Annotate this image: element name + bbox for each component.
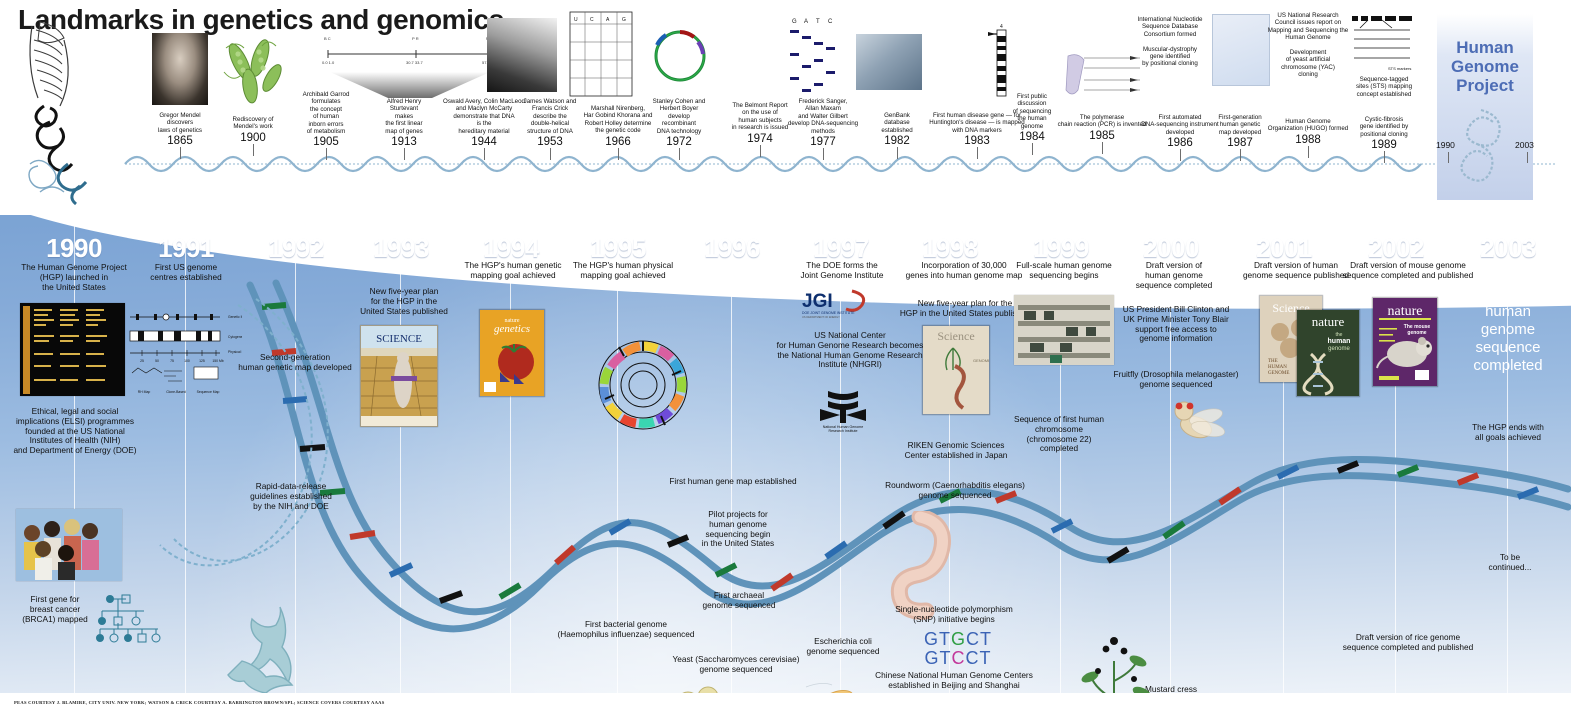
timeline-tick (1032, 143, 1033, 155)
top-event-above: International Nucleotide Sequence Databa… (1124, 16, 1216, 68)
note-2000-draft-version: Draft version of human genome sequence c… (1122, 261, 1226, 290)
timeline-tick (897, 147, 898, 159)
top-timeline-dna-axis (0, 150, 1571, 176)
note-1998-chinese-centers: Chinese National Human Genome Centers es… (868, 671, 1040, 691)
timeline-tick (484, 148, 485, 160)
svg-text:SCIENCE: SCIENCE (376, 333, 422, 345)
svg-text:100: 100 (184, 359, 190, 363)
note-1999-chromosome-22: Sequence of first human chromosome (chro… (1000, 415, 1118, 454)
svg-text:JGI: JGI (802, 291, 833, 312)
note-1991-us-centres: First US genome centres established (128, 263, 244, 283)
top-event: Rediscovery of Mendel's work 1900 (222, 116, 284, 144)
svg-text:P R: P R (412, 36, 419, 41)
note-2000-clinton-blair: US President Bill Clinton and UK Prime M… (1112, 305, 1240, 344)
top-event-above: US National Research Council issues repo… (1262, 12, 1354, 79)
chromosome-ideogram: 4 (988, 22, 1014, 98)
svg-text:Genetic Map: Genetic Map (228, 315, 242, 319)
svg-text:US DEPARTMENT OF ENERGY: US DEPARTMENT OF ENERGY (802, 315, 840, 319)
timeline-tick (1308, 146, 1309, 158)
timeline-tick (404, 148, 405, 160)
genetic-cytogenetic-physical-map-diagram: 255075 100125150 Mb Genetic Map Cytogene… (124, 303, 242, 395)
poster-root: Landmarks in genetics and genomics (0, 0, 1571, 723)
note-1990-hgp-launch: The Human Genome Project (HGP) launched … (8, 263, 140, 292)
sts-markers-diagram: STS markers (1348, 14, 1416, 76)
svg-text:human: human (1328, 338, 1351, 345)
nature-mouse-genome-cover: nature The mouse genome (1372, 297, 1438, 387)
svg-text:nature: nature (1388, 304, 1423, 319)
nature-human-genome-cover: nature the human genome (1296, 309, 1360, 397)
note-1996-first-gene-map: First human gene map established (658, 477, 808, 487)
note-1992-second-gen-map: Second-generation human genetic map deve… (230, 353, 360, 373)
fruitfly-illustration (1166, 393, 1230, 451)
note-1996-pilot-projects: Pilot projects for human genome sequenci… (686, 510, 790, 549)
timeline-tick (1102, 142, 1103, 154)
svg-text:25: 25 (140, 359, 144, 363)
svg-text:Cytogenetic Map: Cytogenetic Map (228, 335, 242, 339)
note-1992-rapid-data-release: Rapid-data-release guidelines establishe… (230, 482, 352, 511)
timeline-tick (550, 148, 551, 160)
svg-text:HUMAN: HUMAN (1268, 365, 1287, 370)
genbank-screen-photo (856, 34, 922, 90)
snp-bottom-sequence: GTCCT (910, 649, 1006, 668)
note-2000-fruitfly: Fruitfly (Drosophila melanogaster) genom… (1110, 370, 1242, 390)
note-2002-rice-genome: Draft version of rice genome sequence co… (1338, 633, 1478, 653)
svg-text:Science: Science (937, 329, 974, 343)
top-event: Alfred Henry Sturtevant makes the first … (370, 98, 438, 148)
note-1998-c-elegans: Roundworm (Caenorhabditis elegans) genom… (880, 481, 1030, 501)
group-of-children-photo (16, 509, 122, 581)
watson-crick-photo (487, 18, 557, 92)
sequencing-gel-autoradiograph: GATC (786, 16, 842, 96)
yeast-cells-illustration (666, 685, 752, 693)
svg-text:GENOME: GENOME (973, 358, 989, 363)
bottom-timeline-band: 1990 1991 1992 1993 1994 1995 1996 1997 … (0, 215, 1571, 693)
year-heading-1992: 1992 (240, 233, 352, 264)
svg-text:RH Map: RH Map (138, 390, 151, 394)
top-event: Cystic-fibrosis gene identified by posit… (1348, 116, 1420, 151)
hgp-start-tick (1448, 152, 1449, 163)
svg-text:125: 125 (199, 359, 205, 363)
svg-text:C: C (828, 19, 833, 25)
hgp-end-tick (1527, 152, 1528, 163)
sequence-printout-image (20, 303, 125, 396)
svg-text:nature: nature (1312, 314, 1345, 329)
timeline-tick (180, 147, 181, 159)
human-genome-project-banner: Human Genome Project (1437, 14, 1533, 200)
timeline-tick (1180, 149, 1181, 161)
top-event: Human Genome Organization (HUGO) formed … (1258, 118, 1358, 146)
pedigree-chart (92, 591, 170, 643)
note-1997-ecoli-sequenced: Escherichia coli genome sequenced (788, 637, 898, 657)
genetic-code-table: UCAG (568, 10, 634, 98)
top-event-above: Sequence-tagged sites (STS) mapping conc… (1348, 76, 1420, 98)
svg-text:150 Mb: 150 Mb (212, 359, 223, 363)
chromosome-pair-illustration (218, 603, 348, 693)
note-1998-snp-initiative: Single-nucleotide polymorphism (SNP) ini… (880, 605, 1028, 625)
hgp-start-year: 1990 (1436, 140, 1455, 150)
svg-text:T: T (816, 19, 820, 25)
svg-text:THE: THE (1268, 359, 1278, 364)
top-event: First public discussion of sequencing th… (1008, 93, 1056, 143)
note-2003-to-be-continued: To be continued... (1470, 553, 1550, 573)
science-cover-1998: Science GENOME (922, 325, 990, 415)
svg-text:4: 4 (1000, 24, 1003, 30)
note-1993-five-year-plan: New five-year plan for the HGP in the Un… (352, 287, 456, 316)
year-heading-1990: 1990 (18, 233, 130, 264)
note-1997-nhgri: US National Center for Human Genome Rese… (770, 331, 930, 370)
note-1996-first-archaeal: First archaeal genome sequenced (690, 591, 788, 611)
top-timeline-band: Landmarks in genetics and genomics (0, 0, 1571, 215)
svg-text:genome: genome (1407, 330, 1426, 336)
timeline-tick (760, 145, 761, 157)
timeline-tick (326, 148, 327, 160)
top-event: Archibald Garrod formulates the concept … (295, 91, 357, 148)
snp-sequence-graphic: GTGCT GTCCT (910, 630, 1006, 668)
hgp-banner-title: Human Genome Project (1437, 38, 1533, 95)
year-heading-1993: 1993 (345, 233, 457, 264)
image-credit-line: PEAS COURTESY J. BLAMIRE, CITY UNIV. NEW… (14, 700, 385, 705)
timeline-tick (977, 147, 978, 159)
jgi-logo: JGI DOE JOINT GENOME INSTITUTE US DEPART… (800, 287, 888, 321)
top-event: Gregor Mendel discovers laws of genetics… (148, 112, 212, 147)
svg-text:GENOME: GENOME (1268, 371, 1289, 376)
svg-text:Research Institute: Research Institute (829, 429, 858, 433)
top-event: Frederick Sanger, Allan Maxam and Walter… (780, 98, 866, 148)
svg-text:genome: genome (1328, 346, 1350, 352)
hgp-end-year: 2003 (1515, 140, 1534, 150)
nature-genetics-cover: nature genetics (479, 309, 545, 397)
svg-text:U: U (574, 17, 578, 23)
svg-text:30.7 33.7: 30.7 33.7 (406, 60, 423, 65)
svg-text:STS markers: STS markers (1388, 66, 1411, 71)
dna-loop-illustration (1451, 106, 1523, 198)
snp-top-sequence: GTGCT (910, 630, 1006, 649)
science-cover-1993: SCIENCE (360, 325, 438, 427)
note-1995-physical-map-goal: The HGP's human physical mapping goal ac… (562, 261, 684, 281)
svg-text:B C: B C (324, 36, 331, 41)
note-text: First bacterial genome (Haemophilus infl… (558, 619, 695, 639)
year-heading-2003: 2003 (1452, 233, 1564, 264)
svg-text:G: G (792, 19, 797, 25)
timeline-tick (253, 144, 254, 156)
arabidopsis-plant-illustration (1070, 627, 1162, 693)
note-1990-elsi: Ethical, legal and social implications (… (0, 407, 150, 456)
note-2003-finished-version: Finished version of human genome sequenc… (1452, 267, 1564, 375)
portrait-gregor-mendel (152, 33, 208, 105)
timeline-tick (823, 148, 824, 160)
circular-genome-map (595, 337, 691, 433)
chromosome-dna-illustration (10, 14, 120, 209)
timeline-tick (679, 148, 680, 160)
svg-text:50: 50 (155, 359, 159, 363)
linear-gene-map-diagram: B CP RM 0.0 1.030.7 33.757.6 (320, 28, 500, 100)
svg-text:A: A (804, 19, 808, 25)
svg-text:G: G (622, 17, 626, 23)
timeline-tick (618, 148, 619, 160)
sequencing-facility-photo (1014, 295, 1114, 365)
svg-text:Sequence Map: Sequence Map (197, 390, 220, 394)
svg-text:genetics: genetics (494, 323, 530, 335)
svg-text:DOE JOINT GENOME INSTITUTE: DOE JOINT GENOME INSTITUTE (802, 311, 855, 315)
nhgri-logo: National Human Genome Research Institute (812, 387, 874, 433)
plasmid-map-diagram (646, 24, 716, 88)
svg-text:C: C (590, 17, 594, 23)
year-heading-1996: 1996 (676, 233, 788, 264)
note-1996-yeast-genome: Yeast (Saccharomyces cerevisiae) genome … (660, 655, 812, 675)
note-1995-first-bacterial-genome: First bacterial genome (Haemophilus infl… (556, 610, 696, 639)
note-1997-doe-jgi: The DOE forms the Joint Genome Institute (790, 261, 894, 281)
note-1990-brca1: First gene for breast cancer (BRCA1) map… (20, 595, 90, 624)
year-heading-1991: 1991 (130, 233, 242, 264)
note-1999-full-scale-sequencing: Full-scale human genome sequencing begin… (1006, 261, 1122, 281)
pea-pods-illustration (216, 28, 288, 108)
svg-text:Clone-Based: Clone-Based (166, 390, 186, 394)
note-2003-hgp-ends: The HGP ends with all goals achieved (1458, 423, 1558, 443)
timeline-tick (1384, 151, 1385, 163)
svg-text:0.0 1.0: 0.0 1.0 (322, 60, 335, 65)
svg-text:75: 75 (170, 359, 174, 363)
top-event: Stanley Cohen and Herbert Boyer develop … (644, 98, 714, 148)
note-1994-genetic-map-goal: The HGP's human genetic mapping goal ach… (455, 261, 571, 281)
timeline-tick (1240, 149, 1241, 161)
